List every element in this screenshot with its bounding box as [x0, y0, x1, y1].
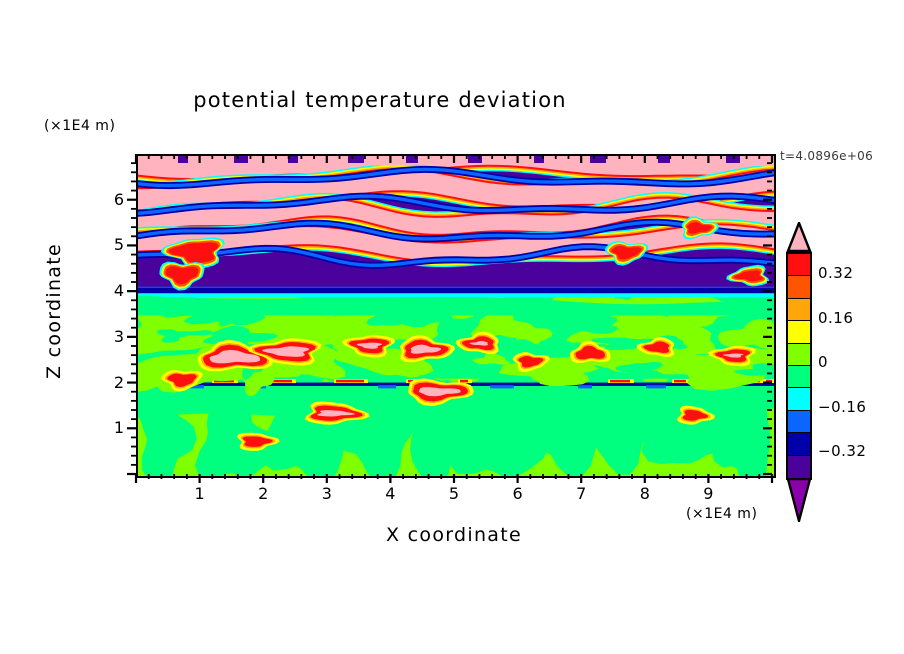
colorbar-band-0 — [788, 254, 810, 276]
y-tick-label: 2 — [94, 373, 124, 392]
x-tick-label: 8 — [630, 484, 660, 503]
colorbar-band-6 — [788, 388, 810, 410]
x-tick-label: 7 — [566, 484, 596, 503]
x-tick-label: 4 — [375, 484, 405, 503]
x-tick-label: 6 — [503, 484, 533, 503]
x-tick-label: 2 — [248, 484, 278, 503]
y-axis-unit-label: (×1E4 m) — [44, 118, 115, 134]
colorbar-band-7 — [788, 411, 810, 433]
colorbar-band-4 — [788, 344, 810, 366]
colorbar-under-arrow — [786, 478, 812, 522]
colorbar-band-9 — [788, 456, 810, 478]
colorbar-band-8 — [788, 433, 810, 455]
colorbar-band-3 — [788, 321, 810, 343]
chart-title: potential temperature deviation — [0, 88, 760, 112]
y-axis-title: Z coordinate — [43, 231, 65, 391]
y-tick-label: 5 — [94, 235, 124, 254]
colorbar-tick-label: 0.32 — [818, 264, 853, 282]
colorbar-tick-label: −0.16 — [818, 398, 866, 416]
colorbar-tick-label: 0 — [818, 353, 828, 371]
x-tick-label: 5 — [439, 484, 469, 503]
x-axis-title: X coordinate — [274, 524, 634, 546]
y-tick-label: 3 — [94, 327, 124, 346]
colorbar-band-2 — [788, 299, 810, 321]
colorbar-over-arrow — [786, 222, 812, 252]
y-tick-label: 1 — [94, 418, 124, 437]
y-tick-label: 6 — [94, 190, 124, 209]
x-axis-unit-label: (×1E4 m) — [686, 506, 757, 522]
y-tick-label: 4 — [94, 281, 124, 300]
x-tick-label: 3 — [312, 484, 342, 503]
colorbar-tick-label: 0.16 — [818, 309, 853, 327]
colorbar-band-1 — [788, 276, 810, 298]
colorbar-band-5 — [788, 366, 810, 388]
x-tick-label: 1 — [185, 484, 215, 503]
colorbar — [786, 252, 812, 480]
time-annotation: t=4.0896e+06 — [780, 149, 873, 163]
colorbar-tick-label: −0.32 — [818, 442, 866, 460]
contour-plot-area — [136, 154, 776, 478]
contour-field — [138, 156, 774, 476]
x-tick-label: 9 — [693, 484, 723, 503]
